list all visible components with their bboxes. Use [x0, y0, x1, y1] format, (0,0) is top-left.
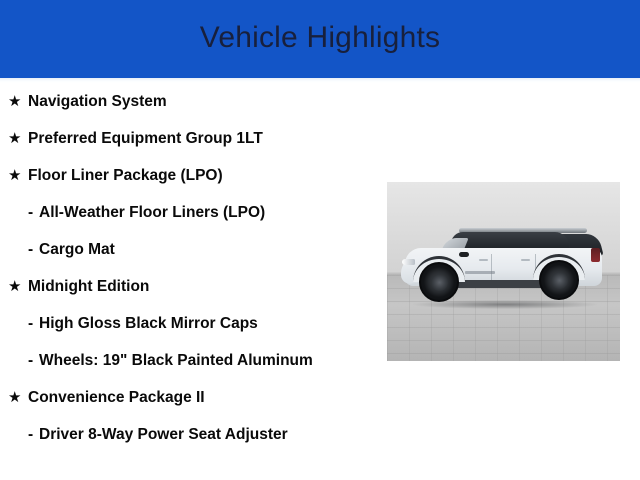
suv-rear-wheel: [539, 260, 579, 300]
highlight-sublabel: Wheels: 19" Black Painted Aluminum: [39, 351, 339, 370]
dash-bullet-icon: -: [28, 314, 39, 333]
header-banner: Vehicle Highlights: [0, 0, 640, 78]
highlight-label: Floor Liner Package (LPO): [28, 166, 328, 185]
suv-door-seam: [491, 254, 492, 280]
highlight-sublabel: High Gloss Black Mirror Caps: [39, 314, 339, 333]
list-item: ★ Floor Liner Package (LPO): [0, 157, 400, 194]
suv-headlight: [402, 259, 415, 265]
highlight-label: Navigation System: [28, 92, 328, 111]
dash-bullet-icon: -: [28, 203, 39, 222]
page-title: Vehicle Highlights: [200, 23, 440, 55]
content-area: ★ Navigation System ★ Preferred Equipmen…: [0, 83, 640, 480]
dash-bullet-icon: -: [28, 240, 39, 259]
list-item: - Cargo Mat: [0, 231, 400, 268]
highlight-label: Convenience Package II: [28, 388, 328, 407]
dash-bullet-icon: -: [28, 351, 39, 370]
highlight-sublabel: All-Weather Floor Liners (LPO): [39, 203, 339, 222]
highlight-sublabel: Driver 8-Way Power Seat Adjuster: [39, 425, 339, 444]
suv-door-handle: [521, 259, 530, 261]
suv-door-handle: [479, 259, 488, 261]
dash-bullet-icon: -: [28, 425, 39, 444]
suv-mirror-cap: [459, 252, 469, 257]
suv-taillight: [591, 248, 600, 262]
list-item: ★ Midnight Edition: [0, 268, 400, 305]
list-item: - Driver 8-Way Power Seat Adjuster: [0, 416, 400, 453]
list-item: ★ Preferred Equipment Group 1LT: [0, 120, 400, 157]
vehicle-highlights-page: Vehicle Highlights ★ Navigation System ★…: [0, 0, 640, 480]
list-item: - Wheels: 19" Black Painted Aluminum: [0, 342, 400, 379]
highlight-label: Midnight Edition: [28, 277, 328, 296]
vehicle-highlights-list: ★ Navigation System ★ Preferred Equipmen…: [0, 83, 400, 453]
list-item: ★ Convenience Package II: [0, 379, 400, 416]
star-bullet-icon: ★: [8, 92, 28, 111]
list-item: ★ Navigation System: [0, 83, 400, 120]
suv-badge: [465, 271, 495, 274]
suv-front-wheel: [419, 262, 459, 302]
star-bullet-icon: ★: [8, 277, 28, 296]
highlight-sublabel: Cargo Mat: [39, 240, 339, 259]
suv-illustration: [399, 226, 608, 310]
list-item: - High Gloss Black Mirror Caps: [0, 305, 400, 342]
star-bullet-icon: ★: [8, 388, 28, 407]
highlight-label: Preferred Equipment Group 1LT: [28, 129, 328, 148]
vehicle-photo: [387, 182, 620, 361]
star-bullet-icon: ★: [8, 129, 28, 148]
list-item: - All-Weather Floor Liners (LPO): [0, 194, 400, 231]
star-bullet-icon: ★: [8, 166, 28, 185]
